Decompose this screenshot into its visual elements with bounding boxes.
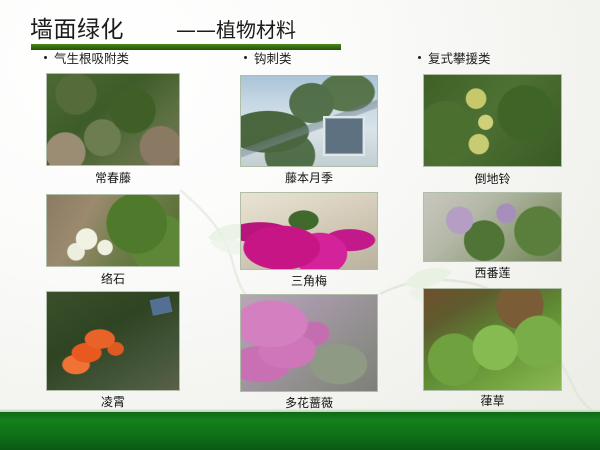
plant-photo-xifanlian [423,192,562,262]
plant-caption: 倒地铃 [423,170,562,187]
plant-cell: 常春藤 [46,73,180,166]
plant-photo-lücao [423,288,562,391]
slide-canvas: 墙面绿化 ——植物材料 气生根吸附类 钩刺类 复式攀援类 常春藤 [0,0,600,450]
plant-cell: 葎草 [423,288,562,391]
plant-cell: 倒地铃 [423,74,562,167]
plant-caption: 凌霄 [46,393,180,410]
plant-caption: 西番莲 [423,264,562,281]
plant-photo-grid: 常春藤 藤本月季 倒地铃 络石 [0,0,600,450]
plant-photo-duohuaqiangwei [240,294,378,392]
plant-caption: 络石 [46,270,180,287]
plant-cell: 西番莲 [423,192,562,262]
plant-cell: 藤本月季 [240,75,378,167]
plant-photo-sanjiaomei [240,192,378,270]
plant-photo-changchunteng [46,73,180,166]
plant-cell: 三角梅 [240,192,378,270]
plant-photo-tengbenyueji [240,75,378,167]
footer-green-band [0,412,600,450]
plant-photo-luoshi [46,194,180,267]
plant-caption: 葎草 [423,392,562,409]
plant-caption: 三角梅 [240,272,378,289]
plant-caption: 藤本月季 [240,169,378,186]
plant-cell: 络石 [46,194,180,267]
plant-cell: 凌霄 [46,291,180,391]
plant-photo-daodiling [423,74,562,167]
plant-caption: 常春藤 [46,169,180,186]
plant-cell: 多花蔷薇 [240,294,378,392]
plant-photo-lingxiao [46,291,180,391]
